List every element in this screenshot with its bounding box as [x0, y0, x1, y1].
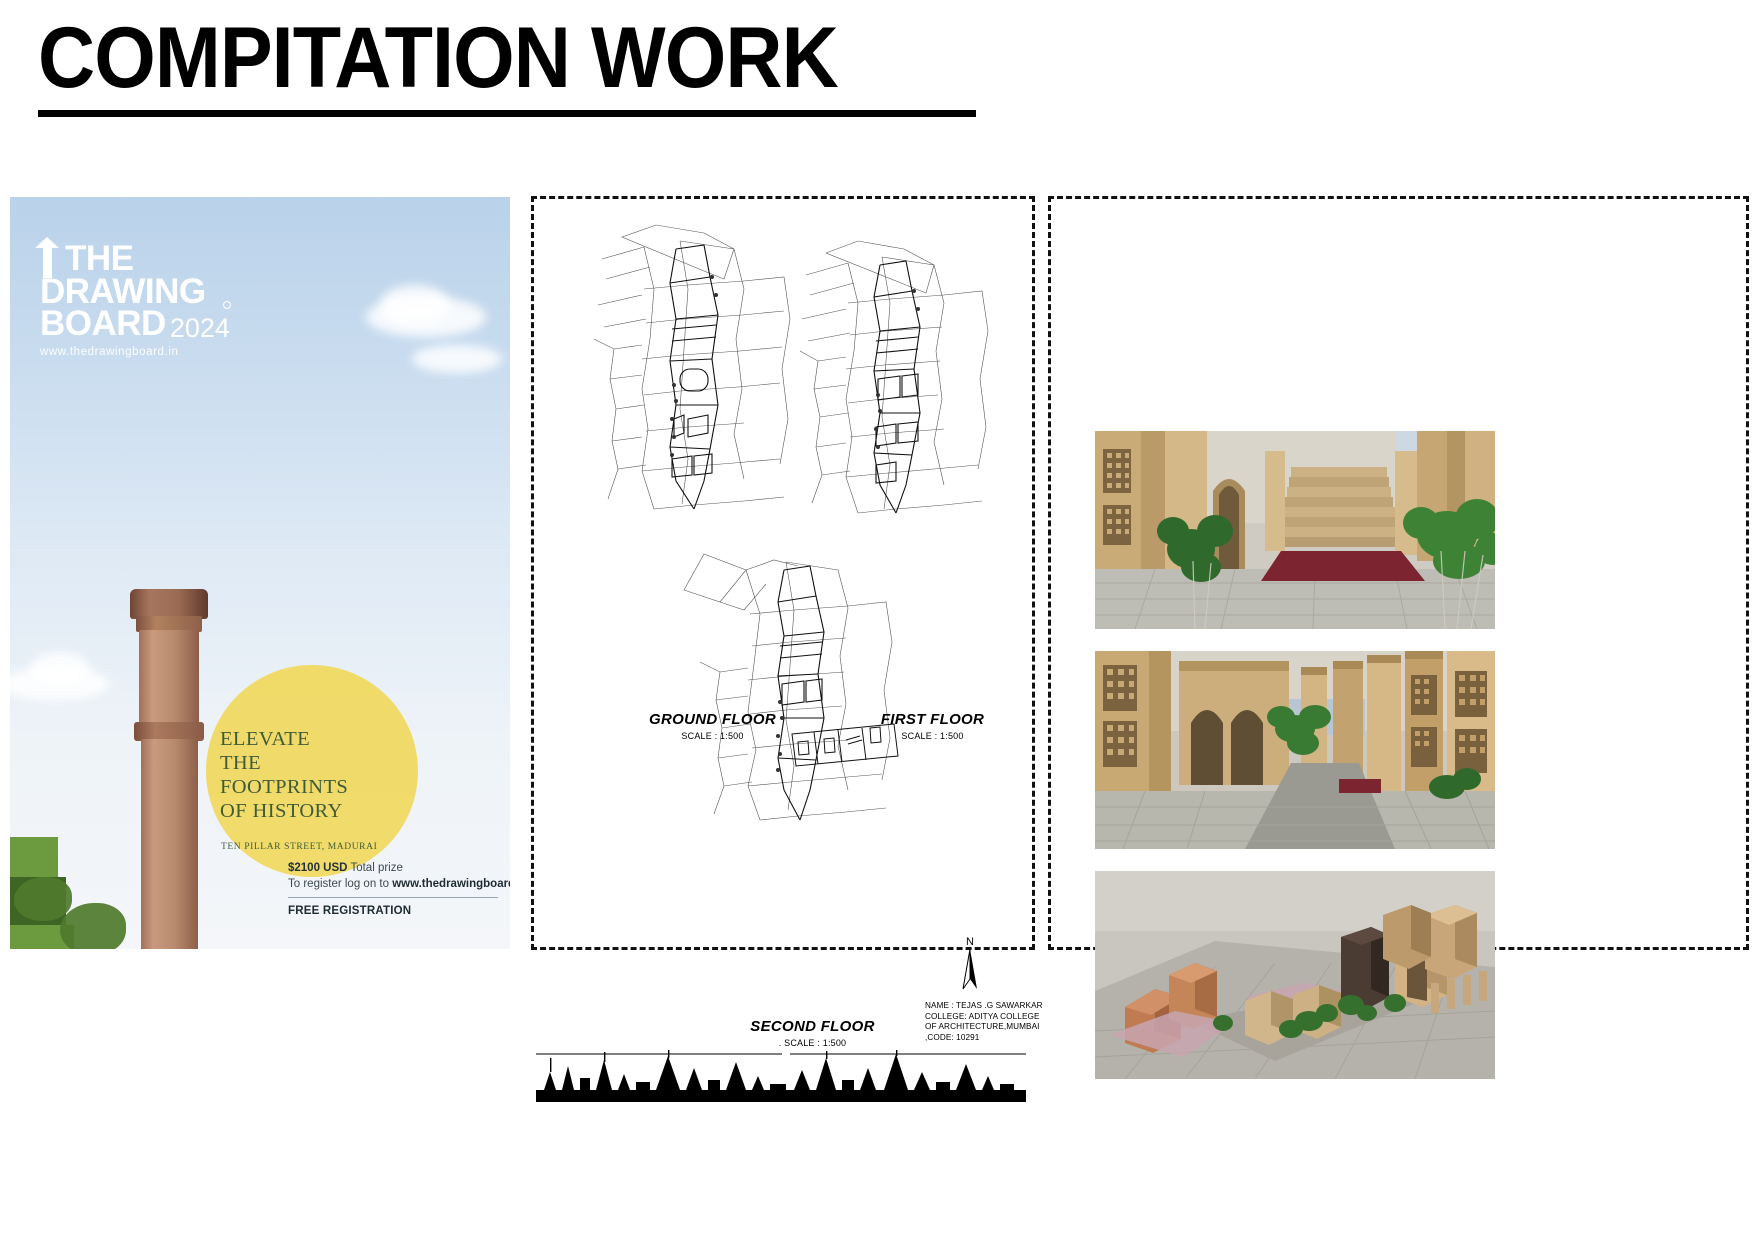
colonnade-street-view	[1095, 651, 1495, 849]
prize-amount: $2100 USD	[288, 862, 347, 874]
aerial-massing-view	[1095, 871, 1495, 1079]
north-letter: N	[966, 936, 974, 948]
panels-row: THE DRAWING BOARD 2024 www.thedrawingboa…	[0, 188, 1753, 958]
page-title: COMPITATION WORK	[38, 12, 1013, 104]
headline-line-3: FOOTPRINTS	[220, 775, 348, 799]
footer-divider	[288, 897, 498, 898]
cloud-icon	[412, 345, 502, 373]
register-url[interactable]: www.thedrawingboard.in	[392, 878, 510, 890]
prize-line: $2100 USD Total prize	[288, 862, 498, 874]
free-registration-label: FREE REGISTRATION	[288, 905, 498, 917]
competition-poster: THE DRAWING BOARD 2024 www.thedrawingboa…	[10, 197, 510, 949]
drawing-board-logo: THE DRAWING BOARD 2024 www.thedrawingboa…	[40, 243, 230, 358]
register-line: To register log on to www.thedrawingboar…	[288, 878, 498, 890]
north-arrow-icon: N	[950, 933, 990, 993]
pen-nib-icon	[43, 245, 52, 278]
second-floor-label: SECOND FLOOR . SCALE : 1:500	[690, 1018, 935, 1048]
plan-title: FIRST FLOOR	[881, 711, 984, 728]
poster-footer: $2100 USD Total prize To register log on…	[288, 862, 498, 917]
floor-plans-panel	[531, 196, 1035, 950]
first-floor-label: FIRST FLOOR SCALE : 1:500	[840, 711, 1025, 741]
poster-subtitle: TEN PILLAR STREET, MADURAI	[221, 842, 377, 852]
logo-year: 2024	[170, 316, 230, 341]
logo-line-the: THE	[40, 243, 230, 276]
ground-floor-plan-drawing	[584, 219, 804, 529]
plan-title: SECOND FLOOR	[750, 1018, 874, 1035]
credit-name: NAME : TEJAS .G SAWARKAR	[925, 1001, 1043, 1012]
plan-scale: . SCALE : 1:500	[690, 1038, 935, 1048]
courtyard-steps-view	[1095, 431, 1495, 629]
plan-scale: SCALE : 1:500	[595, 731, 830, 741]
student-credits: NAME : TEJAS .G SAWARKAR COLLEGE: ADITYA…	[925, 1001, 1043, 1043]
cloud-icon	[380, 285, 450, 325]
ground-floor-label: GROUND FLOOR SCALE : 1:500	[595, 711, 830, 741]
title-underline	[38, 110, 976, 117]
credit-college-2: OF ARCHITECTURE,MUMBAI	[925, 1022, 1043, 1033]
poster-headline: ELEVATE THE FOOTPRINTS OF HISTORY	[220, 727, 348, 823]
register-prefix: To register log on to	[288, 878, 392, 890]
headline-line-1: ELEVATE	[220, 727, 348, 751]
temple-skyline-silhouette	[536, 1050, 1026, 1102]
credit-college-1: COLLEGE: ADITYA COLLEGE	[925, 1012, 1043, 1023]
logo-line-board: BOARD	[40, 308, 166, 341]
title-block: COMPITATION WORK	[38, 12, 1098, 117]
credit-code: ,CODE: 10291	[925, 1033, 1043, 1044]
second-floor-plan-drawing	[674, 544, 924, 834]
first-floor-plan-drawing	[792, 237, 1002, 527]
headline-line-4: OF HISTORY	[220, 799, 348, 823]
logo-url: www.thedrawingboard.in	[40, 346, 230, 358]
registered-trademark-icon	[223, 301, 231, 309]
prize-label: Total prize	[347, 862, 402, 874]
headline-line-2: THE	[220, 751, 348, 775]
plan-scale: SCALE : 1:500	[840, 731, 1025, 741]
tree-foliage	[10, 837, 184, 949]
plan-title: GROUND FLOOR	[649, 711, 776, 728]
cloud-icon	[30, 652, 90, 686]
